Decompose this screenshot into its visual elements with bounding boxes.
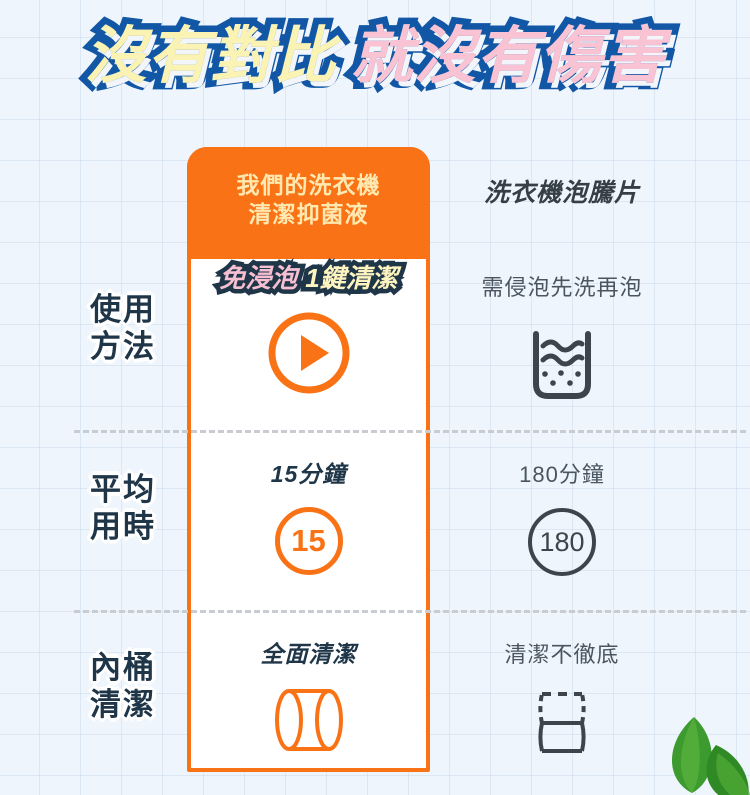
row-label-average-time-line1: 平均	[62, 472, 184, 509]
our-product-header-line1: 我們的洗衣機	[187, 171, 430, 200]
drum-partial-icon	[514, 683, 610, 761]
ours-drum-clean-cell: 全面清潔	[191, 635, 426, 759]
row-label-average-time-line2: 用時	[62, 509, 184, 546]
ours-time-circle: 15	[275, 507, 343, 575]
competitor-header: 洗衣機泡騰片	[440, 173, 684, 209]
row-label-drum-clean: 內桶 清潔	[62, 650, 184, 723]
drum-full-icon	[261, 681, 357, 759]
play-circle-icon	[263, 307, 355, 399]
theirs-usage-caption: 需侵泡先洗再泡	[440, 270, 684, 302]
row-label-drum-clean-line1: 內桶	[62, 650, 184, 687]
theirs-drum-caption: 清潔不徹底	[440, 637, 684, 669]
theirs-usage-method-cell: 需侵泡先洗再泡	[440, 270, 684, 410]
row-divider-2	[74, 610, 746, 613]
ours-usage-method-cell: 免浸泡1鍵清潔	[191, 265, 426, 399]
soaking-basin-icon	[516, 318, 608, 410]
badge-one-key-clean: 1鍵清潔	[305, 265, 397, 291]
theirs-drum-clean-cell: 清潔不徹底	[440, 637, 684, 761]
our-product-header-line2: 清潔抑菌液	[187, 200, 430, 229]
theirs-time-circle: 180	[528, 508, 596, 576]
theirs-average-time-cell: 180分鐘 180	[440, 457, 684, 576]
ours-usage-badges: 免浸泡1鍵清潔	[191, 265, 426, 291]
page-title-part-a: 沒有對比	[84, 24, 336, 91]
row-label-average-time: 平均 用時	[62, 472, 184, 545]
row-divider-1	[74, 430, 746, 433]
row-label-usage-method: 使用 方法	[62, 292, 184, 365]
page-title: 沒有對比就沒有傷害	[0, 24, 750, 91]
infographic-page: 沒有對比就沒有傷害 我們的洗衣機 清潔抑菌液 洗衣機泡騰片 使用 方法 免浸泡1…	[0, 0, 750, 795]
row-label-drum-clean-line2: 清潔	[62, 687, 184, 724]
our-product-header: 我們的洗衣機 清潔抑菌液	[187, 147, 430, 259]
badge-no-soak: 免浸泡	[219, 265, 297, 291]
row-label-usage-method-line1: 使用	[62, 292, 184, 329]
page-title-part-b: 就沒有傷害	[351, 24, 666, 91]
theirs-time-caption: 180分鐘	[440, 457, 684, 489]
row-label-usage-method-line2: 方法	[62, 329, 184, 366]
ours-drum-caption: 全面清潔	[191, 635, 426, 669]
ours-time-caption: 15分鐘	[191, 455, 426, 489]
ours-average-time-cell: 15分鐘 15	[191, 455, 426, 575]
